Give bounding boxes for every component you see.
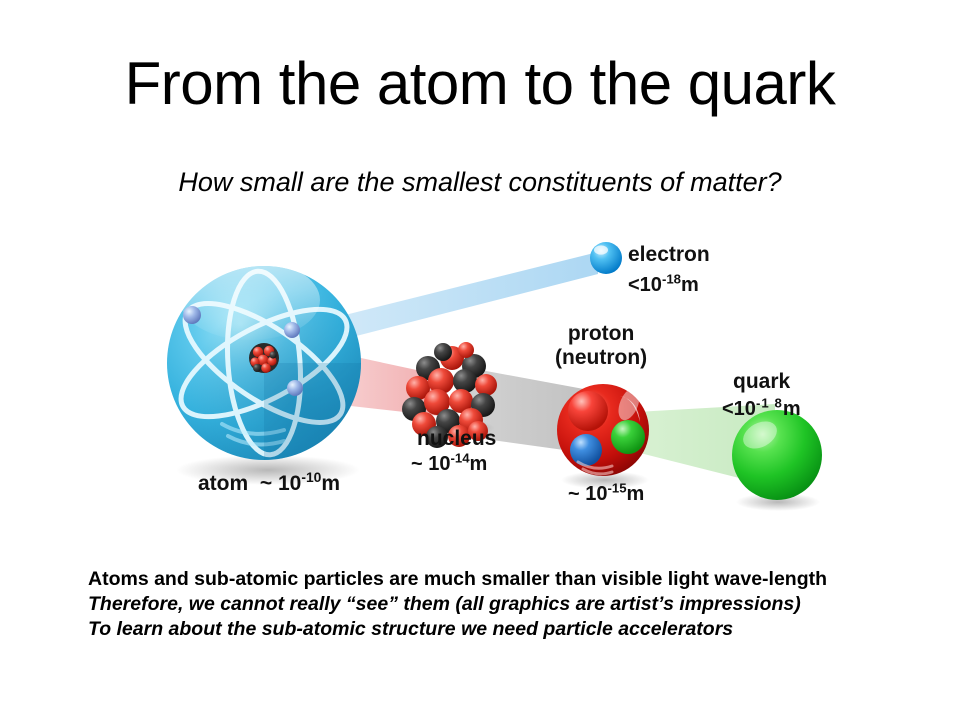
- quark-red: [568, 391, 608, 431]
- nucleus-size-prefix: ~ 10: [411, 453, 450, 475]
- caption-block: Atoms and sub-atomic particles are much …: [88, 567, 888, 642]
- label-proton-size: ~ 10-15m: [568, 483, 644, 505]
- label-proton: proton (neutron): [555, 322, 647, 369]
- electron-size-exponent: -18: [662, 271, 681, 286]
- atom-core-nucleus: [249, 343, 279, 373]
- label-quark-size: <10-1 8m: [722, 398, 801, 420]
- label-nucleus: nucleus: [417, 427, 496, 451]
- proton-size-exponent: -15: [607, 480, 626, 495]
- nucleus-size-unit: m: [470, 453, 488, 475]
- quark-blue: [570, 434, 602, 466]
- atom-size-exponent: -10: [301, 469, 321, 485]
- proton-label-line1: proton: [568, 322, 634, 345]
- orbit-electron-dot: [284, 322, 300, 338]
- label-nucleus-size: ~ 10-14m: [411, 453, 487, 475]
- orbit-electron-dot: [183, 306, 201, 324]
- electron-sphere: [590, 242, 622, 274]
- atom-size-prefix: ~ 10: [260, 472, 301, 495]
- quark-size-prefix: <10: [722, 398, 756, 420]
- quark-green: [611, 420, 645, 454]
- proton-label-line2: (neutron): [555, 346, 647, 370]
- proton-size-prefix: ~ 10: [568, 483, 607, 505]
- label-atom: atom ~ 10-10m: [198, 472, 340, 496]
- quark-sphere: [732, 410, 822, 511]
- slide-canvas: From the atom to the quark How small are…: [0, 0, 960, 720]
- proton-sphere: [557, 384, 649, 489]
- atom-illustration: [166, 260, 362, 485]
- atom-label-text: atom: [198, 472, 248, 495]
- label-electron-size: <10-18m: [628, 274, 699, 296]
- electron-size-unit: m: [681, 274, 699, 296]
- quark-size-unit: m: [783, 398, 801, 420]
- label-electron: electron: [628, 243, 710, 267]
- caption-line-1: Atoms and sub-atomic particles are much …: [88, 567, 888, 592]
- label-quark: quark: [733, 370, 790, 394]
- nucleus-size-exponent: -14: [450, 450, 469, 465]
- quark-size-exponent: -1 8: [756, 395, 783, 410]
- orbit-electron-dot: [287, 380, 303, 396]
- electron-size-prefix: <10: [628, 274, 662, 296]
- atom-size-unit: m: [321, 472, 340, 495]
- caption-line-2: Therefore, we cannot really “see” them (…: [88, 592, 888, 617]
- proton-size-unit: m: [627, 483, 645, 505]
- caption-line-3: To learn about the sub-atomic structure …: [88, 617, 888, 642]
